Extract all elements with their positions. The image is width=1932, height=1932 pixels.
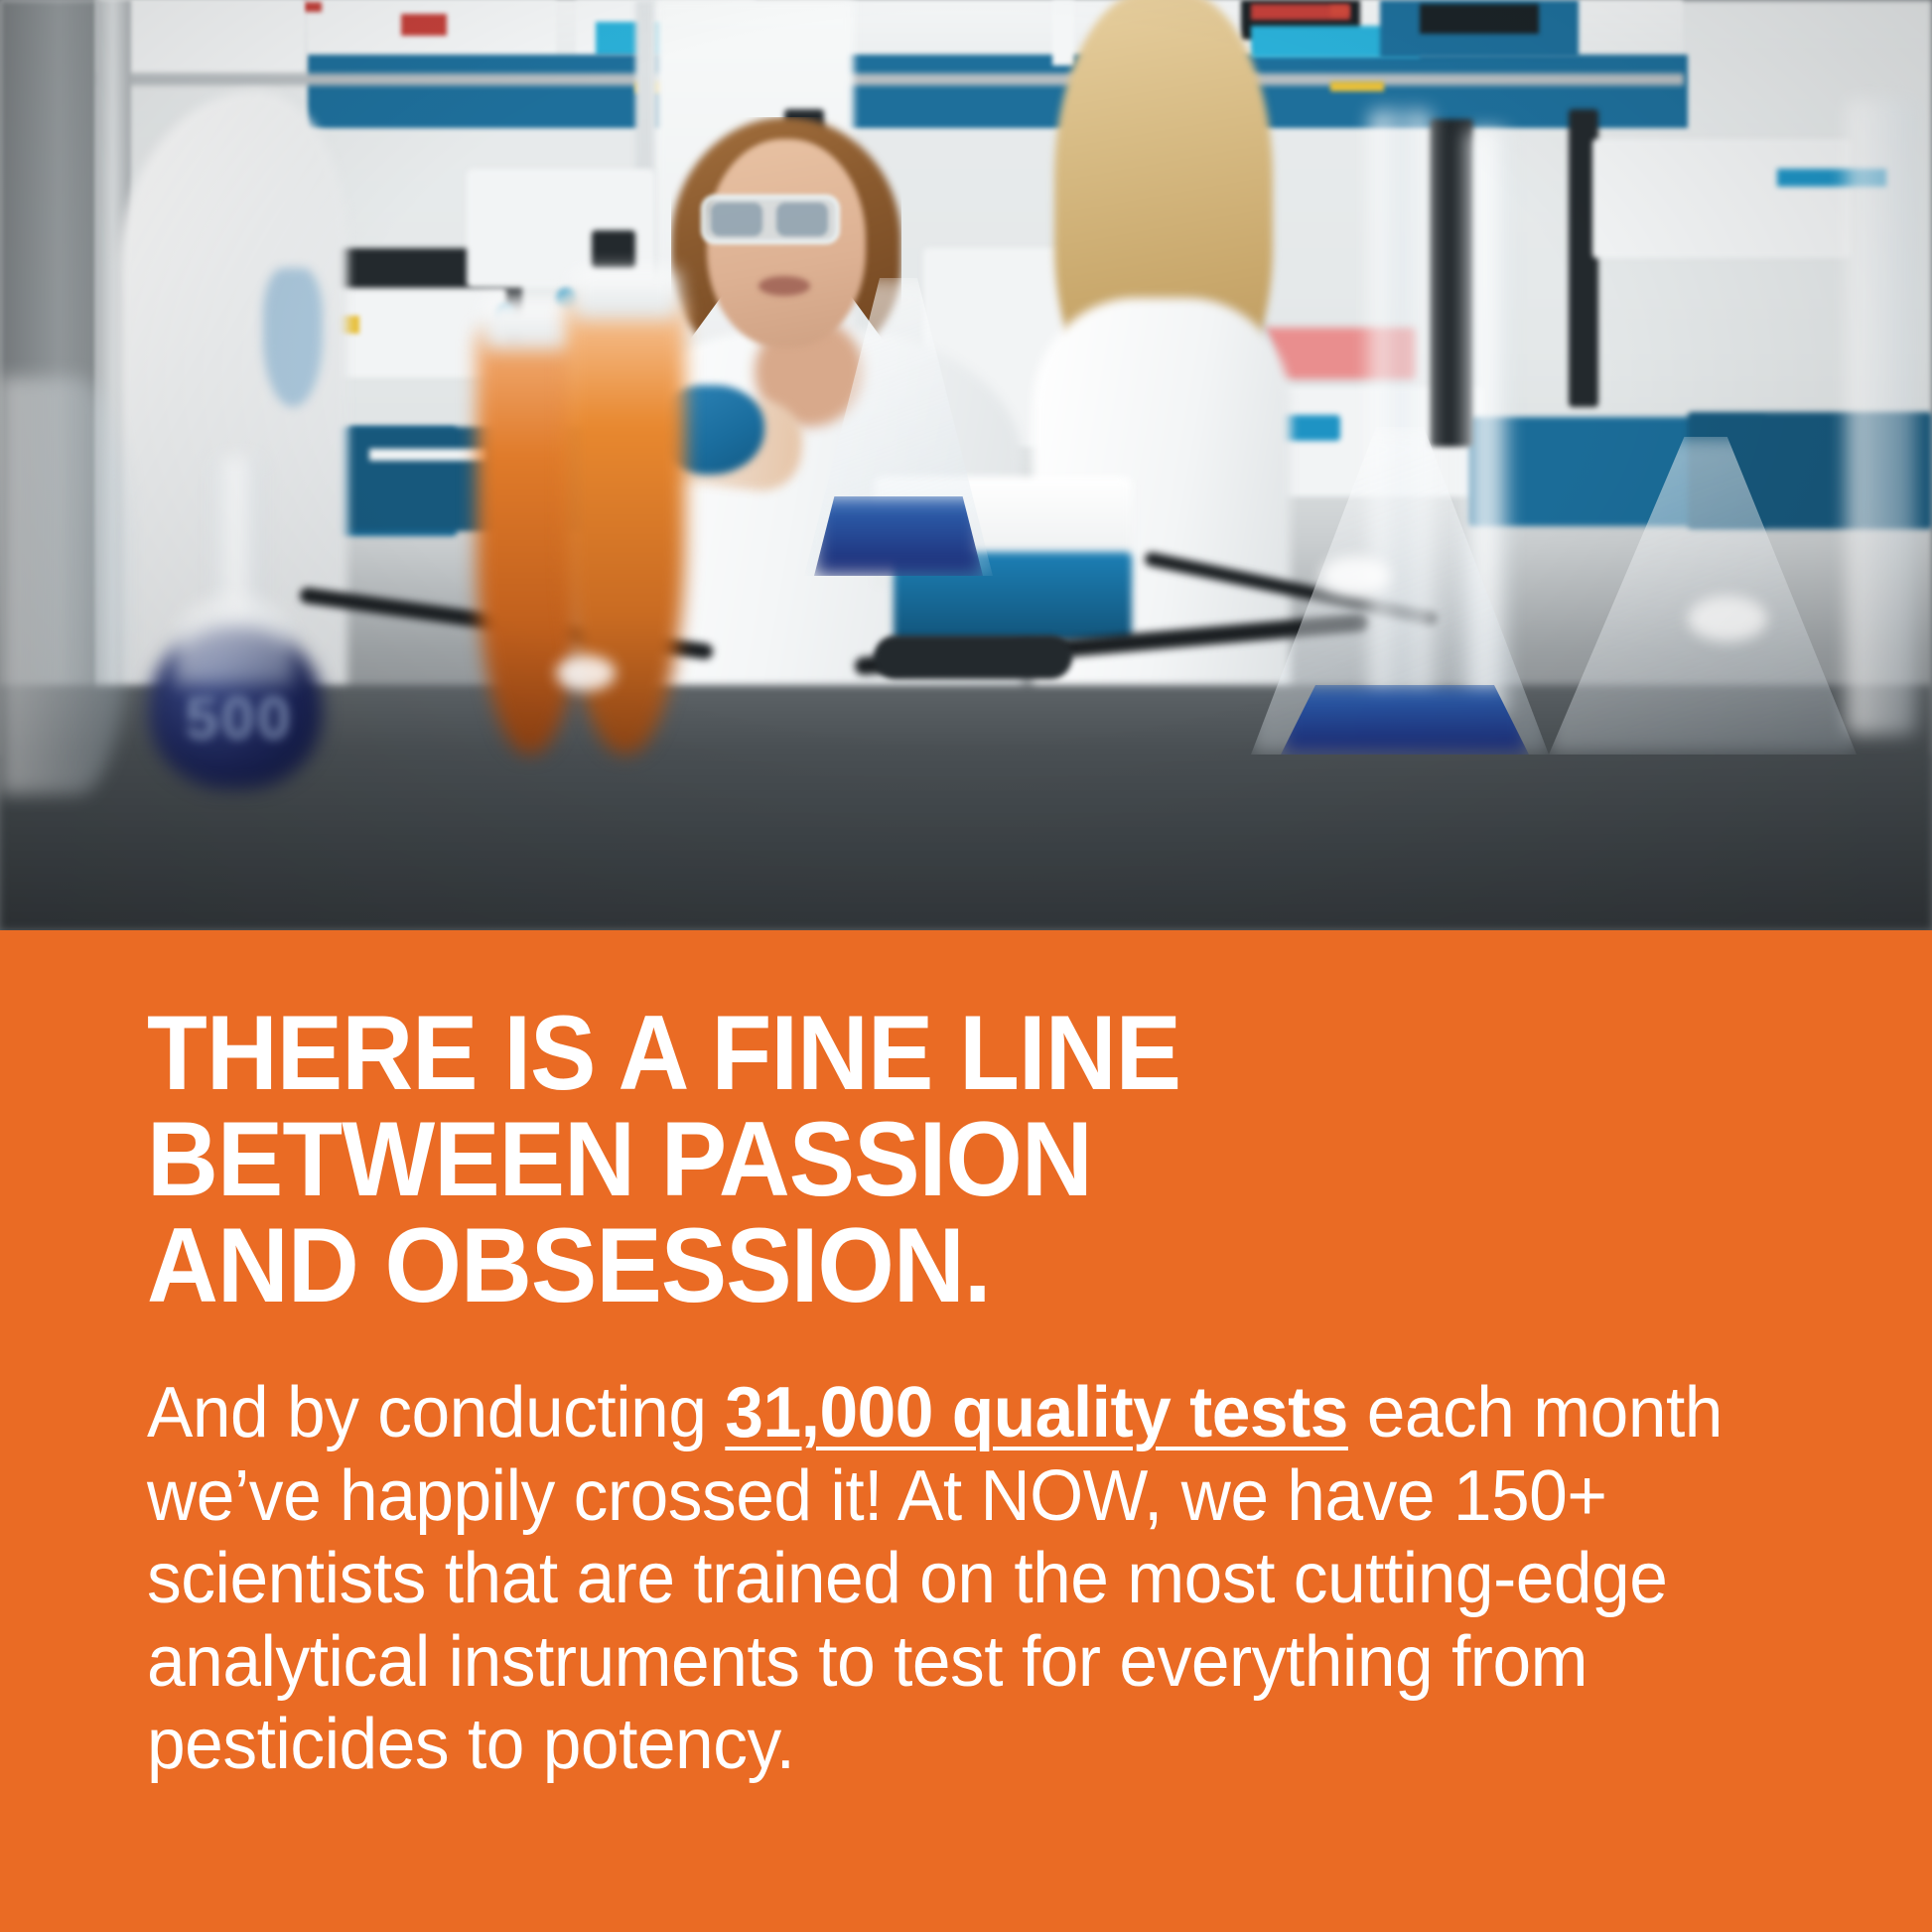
safety-goggles-lens-right xyxy=(776,203,828,236)
scientist-center-mouth xyxy=(759,276,810,296)
weighing-pan-dark xyxy=(874,635,1072,679)
instrument-far-right xyxy=(1592,139,1851,258)
shelf-red-chip xyxy=(1330,6,1348,16)
volumetric-flask-highlight xyxy=(175,596,294,685)
volumetric-flask-volume-label: 500 xyxy=(175,685,304,753)
amber-reagent-cap-2 xyxy=(572,270,679,320)
body-lead: And by conducting xyxy=(147,1373,725,1452)
scientist-left-scarf xyxy=(263,268,323,407)
cabinet-blue-band xyxy=(308,55,1688,128)
erlenmeyer-flask-center-liquid xyxy=(814,496,983,576)
promo-graphic: 500 THERE IS A FINE LINE BETWEEN PASSION… xyxy=(0,0,1932,1932)
clamp-dark-1 xyxy=(592,230,635,268)
glass-specular-3 xyxy=(556,655,616,691)
drawer-handle-1 xyxy=(369,449,488,461)
cabinet-divider-1 xyxy=(1052,0,1074,66)
stat-quality-tests: 31,000 quality tests xyxy=(725,1373,1348,1452)
graduated-cylinder-3 xyxy=(1847,99,1916,735)
page-title: THERE IS A FINE LINE BETWEEN PASSION AND… xyxy=(147,1000,1532,1318)
lab-photo: 500 xyxy=(0,0,1932,930)
foreground-glass-left-edge xyxy=(0,377,129,794)
body-copy: And by conducting 31,000 quality tests e… xyxy=(147,1372,1727,1787)
cabinet-dark-right xyxy=(1420,4,1539,34)
orange-content-panel: THERE IS A FINE LINE BETWEEN PASSION AND… xyxy=(0,930,1932,1932)
safety-goggles-lens-left xyxy=(711,203,762,236)
glass-specular-1 xyxy=(1320,556,1390,596)
glass-specular-2 xyxy=(1688,596,1767,641)
cabinet-label-red-1 xyxy=(401,14,447,36)
cabinet-yellow-tape-2 xyxy=(1330,81,1384,91)
cabinet-label-red-2 xyxy=(304,2,322,12)
cabinet-under-lip xyxy=(95,73,1684,85)
erlenmeyer-flask-right-liquid xyxy=(1281,685,1529,755)
photo-composition: 500 xyxy=(0,0,1932,930)
